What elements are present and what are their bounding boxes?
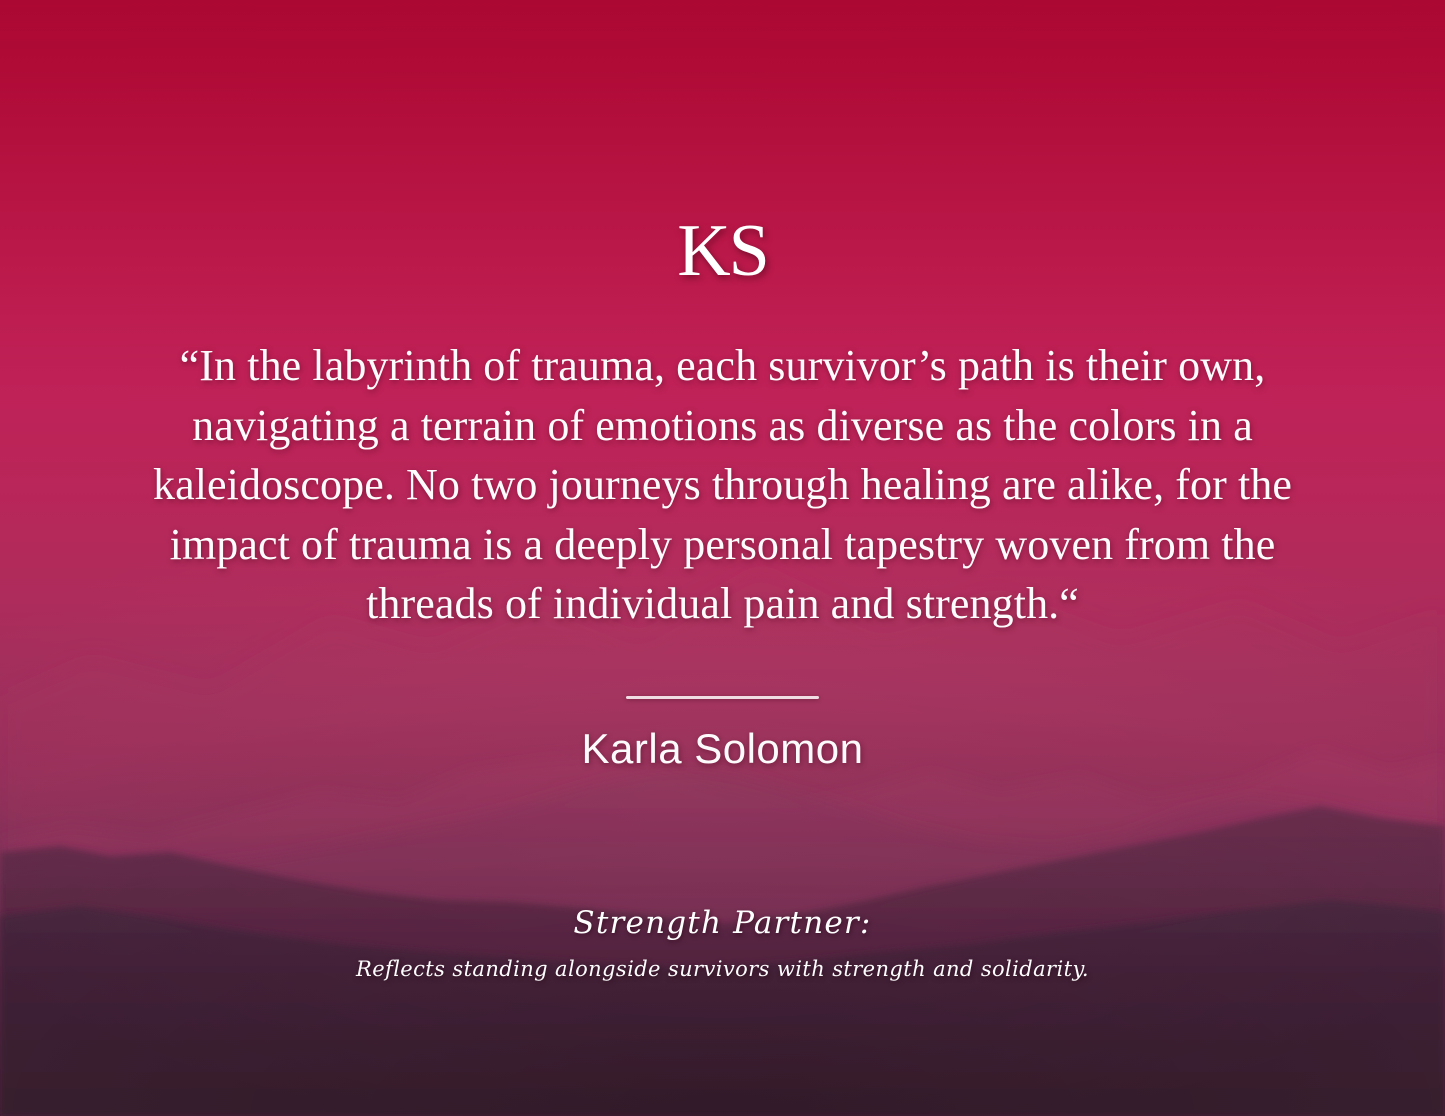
footer-subtitle: Reflects standing alongside survivors wi…: [0, 957, 1445, 981]
author-name: Karla Solomon: [582, 725, 864, 773]
quote-card: KS “In the labyrinth of trauma, each sur…: [0, 0, 1445, 1116]
ks-monogram-icon: KS: [677, 214, 768, 288]
footer-title: Strength Partner:: [0, 905, 1445, 941]
footer-block: Strength Partner: Reflects standing alon…: [0, 905, 1445, 981]
quote-text: “In the labyrinth of trauma, each surviv…: [115, 336, 1330, 634]
divider-icon: [626, 696, 819, 699]
